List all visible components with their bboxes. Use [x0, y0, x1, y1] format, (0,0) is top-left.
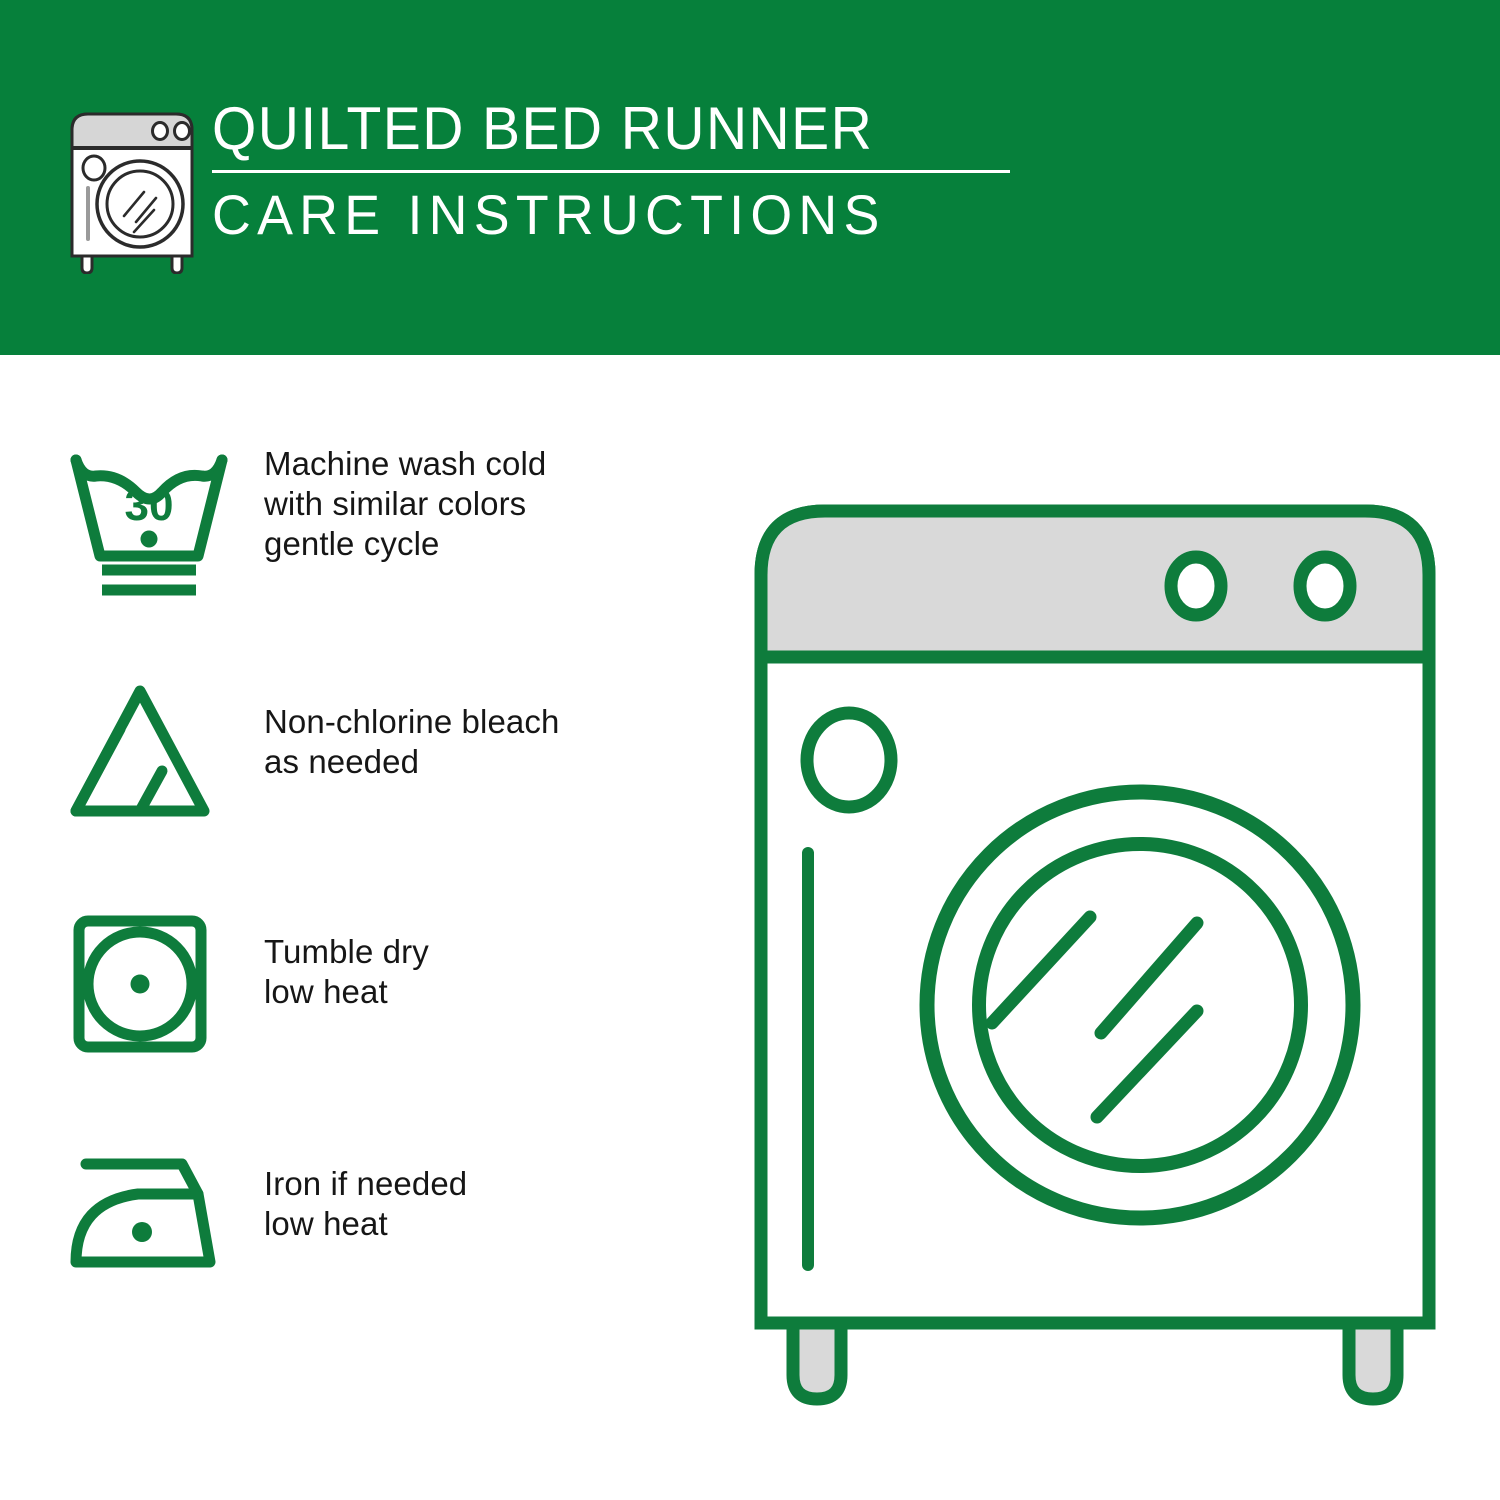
leg-left — [793, 1323, 841, 1399]
iron-low-heat-icon — [62, 1132, 242, 1307]
care-instructions-page: QUILTED BED RUNNER CARE INSTRUCTIONS — [0, 0, 1500, 1500]
care-label-tumble-dry: Tumble dry low heat — [242, 890, 429, 1012]
knob-left — [1171, 557, 1221, 615]
page-title: QUILTED BED RUNNER — [212, 96, 991, 162]
wash-tub-30-gentle-icon: 30 — [62, 436, 242, 611]
care-instructions-list: 30 Machine wash cold with similar colors… — [0, 430, 680, 1350]
non-chlorine-bleach-triangle-icon — [62, 666, 242, 841]
care-row-iron: Iron if needed low heat — [0, 1120, 680, 1350]
leg-right — [1349, 1323, 1397, 1399]
front-load-washing-machine-illustration — [745, 495, 1445, 1415]
header-band: QUILTED BED RUNNER CARE INSTRUCTIONS — [0, 0, 1500, 355]
title-divider — [212, 170, 1010, 173]
care-row-tumble-dry: Tumble dry low heat — [0, 890, 680, 1120]
header-text-block: QUILTED BED RUNNER CARE INSTRUCTIONS — [212, 96, 1032, 246]
care-label-iron: Iron if needed low heat — [242, 1120, 467, 1244]
tumble-dry-low-heat-icon — [62, 896, 242, 1071]
care-label-machine-wash: Machine wash cold with similar colors ge… — [242, 430, 546, 564]
knob-right — [1300, 557, 1350, 615]
washing-machine-icon — [62, 104, 202, 274]
care-row-machine-wash: 30 Machine wash cold with similar colors… — [0, 430, 680, 660]
wash-temperature-value: 30 — [125, 481, 174, 530]
page-subtitle: CARE INSTRUCTIONS — [212, 184, 999, 246]
care-row-bleach: Non-chlorine bleach as needed — [0, 660, 680, 890]
care-label-bleach: Non-chlorine bleach as needed — [242, 660, 559, 782]
detergent-dispenser-circle — [807, 713, 891, 807]
